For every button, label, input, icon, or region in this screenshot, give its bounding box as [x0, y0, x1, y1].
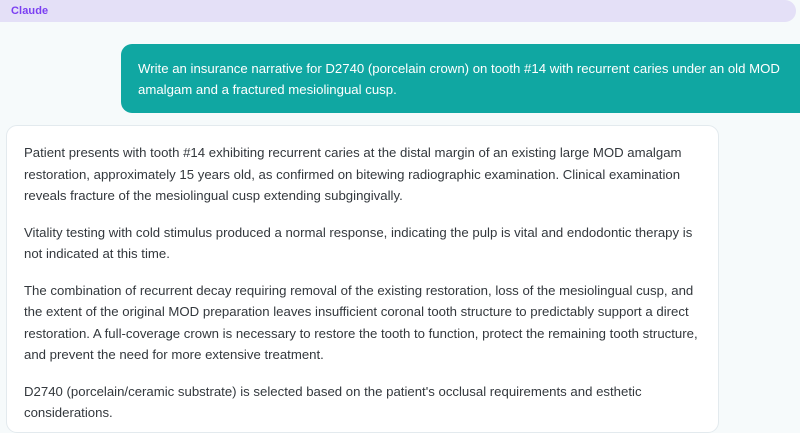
assistant-response-card: Patient presents with tooth #14 exhibiti…: [6, 125, 719, 433]
user-message-text: Write an insurance narrative for D2740 (…: [138, 58, 800, 100]
user-message-bubble: Write an insurance narrative for D2740 (…: [121, 44, 800, 113]
app-title: Claude: [11, 6, 48, 17]
assistant-paragraph: Vitality testing with cold stimulus prod…: [24, 222, 700, 265]
user-message-row: Write an insurance narrative for D2740 (…: [121, 44, 800, 113]
assistant-paragraph: The combination of recurrent decay requi…: [24, 280, 700, 366]
app-header: Claude: [0, 0, 796, 22]
assistant-paragraph: Patient presents with tooth #14 exhibiti…: [24, 142, 700, 207]
assistant-paragraph: D2740 (porcelain/ceramic substrate) is s…: [24, 381, 700, 424]
